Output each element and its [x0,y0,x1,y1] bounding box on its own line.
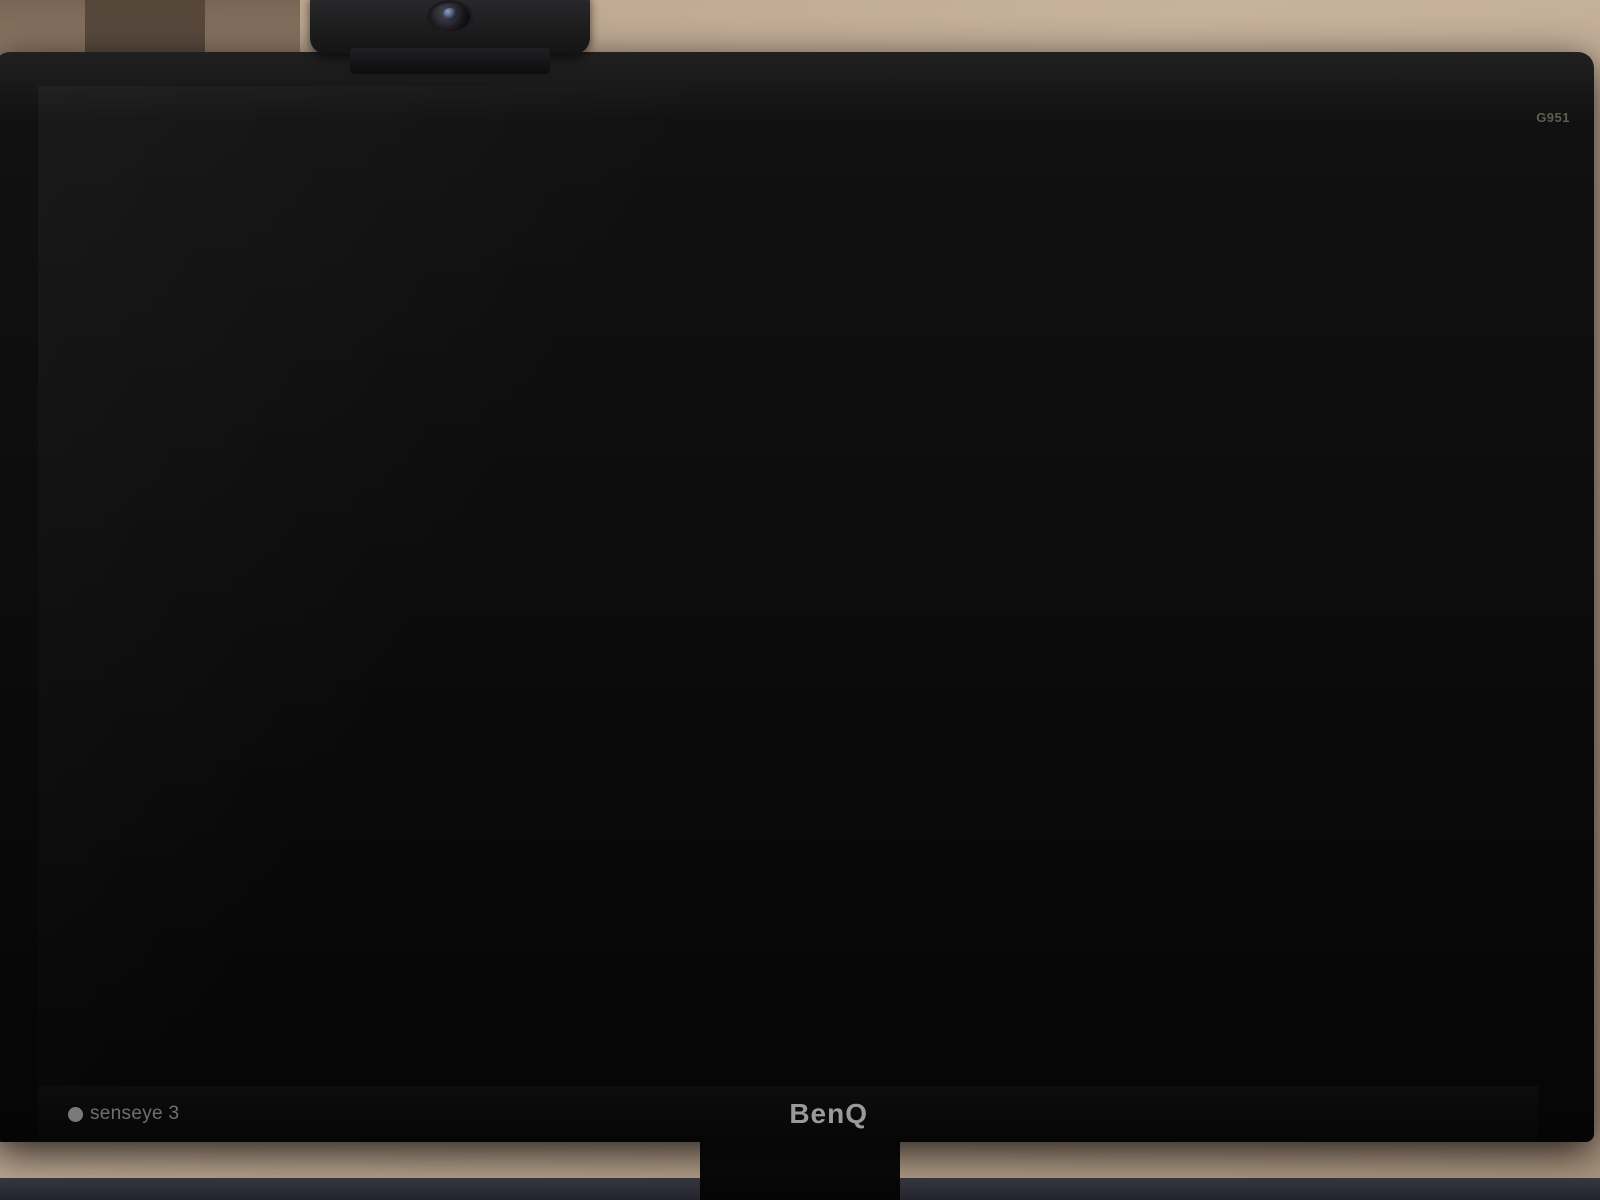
monitor-body: G951 [0,52,1594,1142]
senseye-label: senseye 3 [90,1103,179,1125]
senseye-eye-icon [68,1107,83,1122]
monitor-bezel-bottom: senseye 3 BenQ [38,1086,1538,1142]
benq-logo: BenQ [789,1098,868,1130]
webcam-mount [350,48,550,74]
monitor-model-label: G951 [1536,110,1570,125]
monitor-stand [700,1142,900,1200]
webcam-lens-glass [443,8,457,20]
senseye-badge: senseye 3 [68,1103,179,1125]
photo-scene: G951 Я Яндекс ✕ ✉ Письмо «Re: Добрый де … [0,0,1600,1200]
webcam-device [310,0,590,54]
wall-shadow [85,0,205,52]
monitor-gloss [0,52,1594,122]
